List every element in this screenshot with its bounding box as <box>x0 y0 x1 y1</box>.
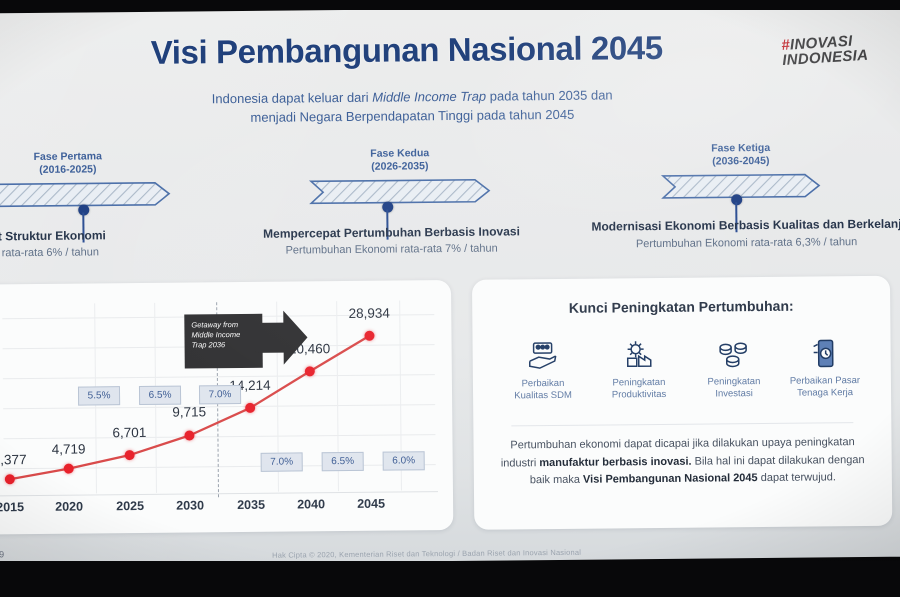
data-label: 28,934 <box>334 305 404 321</box>
growth-keys-panel: Kunci Peningkatan Pertumbuhan: Perbaikan… <box>472 276 892 530</box>
key-item-produktivitas-label: Peningkatan Produktivitas <box>591 377 687 402</box>
coins-money-icon <box>686 337 782 372</box>
phase-1-headline: emperkuat Struktur Ekonomi <box>0 228 174 245</box>
slide-photo: Visi Pembangunan Nasional 2045 Indonesia… <box>0 0 900 597</box>
photo-bottom-border <box>0 561 900 597</box>
key-item-investasi-label: Peningkatan Investasi <box>686 376 782 401</box>
phase-block-3: Fase Ketiga (2036-2045) <box>661 141 822 200</box>
callout-arrow-icon <box>255 310 308 370</box>
growth-rate-badge: 7.0% <box>261 452 303 471</box>
data-point <box>125 450 135 460</box>
key-item-tenaga-kerja-label: Perbaikan Pasar Tenaga Kerja <box>777 375 873 400</box>
photo-top-border <box>0 0 900 10</box>
para-bold-1: manufaktur berbasis inovasi. <box>539 455 691 468</box>
x-axis-tick: 2040 <box>284 497 338 512</box>
logo-word-indonesia: INDONESIA <box>782 48 869 68</box>
page-subtitle: Indonesia dapat keluar dari Middle Incom… <box>132 85 692 128</box>
phase-2-years: (2026-2035) <box>371 160 428 173</box>
keys-divider <box>511 422 853 426</box>
phase-block-1: Fase Pertama (2016-2025) <box>0 150 171 209</box>
key-item-produktivitas: Peningkatan Produktivitas <box>591 338 688 402</box>
key-item-investasi: Peningkatan Investasi <box>686 337 783 401</box>
data-point <box>184 430 194 440</box>
phase-block-2: Fase Kedua (2026-2035) <box>309 147 492 206</box>
phase-1-title: Fase Pertama (2016-2025) <box>0 150 171 178</box>
slide-content: Visi Pembangunan Nasional 2045 Indonesia… <box>0 5 900 566</box>
x-axis-tick: 2030 <box>163 498 217 513</box>
growth-rate-badge: 6.0% <box>383 451 425 470</box>
growth-rate-badge: 5.5% <box>78 386 120 405</box>
callout-line-2: Middle Income <box>191 330 257 341</box>
phase-1-years: (2016-2025) <box>39 163 96 176</box>
para-bold-2: Visi Pembangunan Nasional 2045 <box>583 472 758 486</box>
phase-3-title: Fase Ketiga (2036-2045) <box>661 141 821 169</box>
phase-2-chevron <box>309 178 491 206</box>
phase-1-subtext: uhan Ekonomi rata-rata 6% / tahun <box>0 246 164 261</box>
callout-line-1: Getaway from <box>191 320 257 331</box>
people-hand-icon <box>495 339 591 374</box>
data-label: 4,719 <box>33 441 103 457</box>
callout-line-3: Trap 2036 <box>192 340 258 351</box>
phase-2-title: Fase Kedua (2026-2035) <box>309 147 491 175</box>
page-title: Visi Pembangunan Nasional 2045 <box>0 27 822 73</box>
growth-rate-badge: 7.0% <box>199 385 241 404</box>
key-item-tenaga-kerja: Perbaikan Pasar Tenaga Kerja <box>777 336 874 400</box>
data-label: 6,701 <box>94 425 164 441</box>
keys-panel-title: Kunci Peningkatan Pertumbuhan: <box>472 297 890 317</box>
subtitle-line-2: menjadi Negara Berpendapatan Tinggi pada… <box>250 107 574 125</box>
growth-rate-badge: 6.5% <box>139 386 181 405</box>
subtitle-italic-term: Middle Income Trap <box>372 89 486 105</box>
factory-gear-icon <box>591 338 687 373</box>
getaway-callout-box: Getaway from Middle Income Trap 2036 <box>184 314 263 369</box>
phase-3-headline: Modernisasi Ekonomi Berbasis Kualitas da… <box>591 217 900 234</box>
x-axis-tick: 2045 <box>344 497 398 512</box>
chart-source-note: penas, 2019 <box>0 549 4 559</box>
data-point <box>364 331 374 341</box>
x-axis-tick: 2025 <box>103 499 157 514</box>
keys-panel-paragraph: Pertumbuhan ekonomi dapat dicapai jika d… <box>499 434 865 490</box>
x-axis-tick: 2035 <box>224 498 278 513</box>
data-point <box>64 464 74 474</box>
x-axis-tick: 2020 <box>42 499 96 514</box>
phase-3-years: (2036-2045) <box>712 155 769 168</box>
inovasi-indonesia-logo: #INOVASI INDONESIA <box>781 33 869 68</box>
growth-rate-badge: 6.5% <box>322 452 364 471</box>
phase-3-subtext: Pertumbuhan Ekonomi rata-rata 6,3% / tah… <box>592 236 900 251</box>
key-item-sdm-label: Perbaikan Kualitas SDM <box>495 378 591 403</box>
phase-3-name: Fase Ketiga <box>711 142 770 155</box>
phase-2-headline: Mempercepat Pertumbuhan Berbasis Inovasi <box>241 224 541 241</box>
phase-1-name: Fase Pertama <box>34 150 102 163</box>
copyright-note: Hak Cipta © 2020, Kementerian Riset dan … <box>147 547 707 561</box>
mobile-worker-icon <box>777 336 873 371</box>
key-item-sdm: Perbaikan Kualitas SDM <box>495 339 592 403</box>
subtitle-part-1: Indonesia dapat keluar dari <box>212 90 373 107</box>
subtitle-part-2: pada tahun 2035 dan <box>486 87 613 103</box>
phase-2-name: Fase Kedua <box>370 147 429 160</box>
para-part-3: dapat terwujud. <box>758 471 836 484</box>
phase-2-subtext: Pertumbuhan Ekonomi rata-rata 7% / tahun <box>242 242 542 257</box>
x-axis-tick: 2015 <box>0 500 37 515</box>
data-point <box>5 474 15 484</box>
data-label: 9,715 <box>154 404 224 420</box>
data-point <box>245 403 255 413</box>
